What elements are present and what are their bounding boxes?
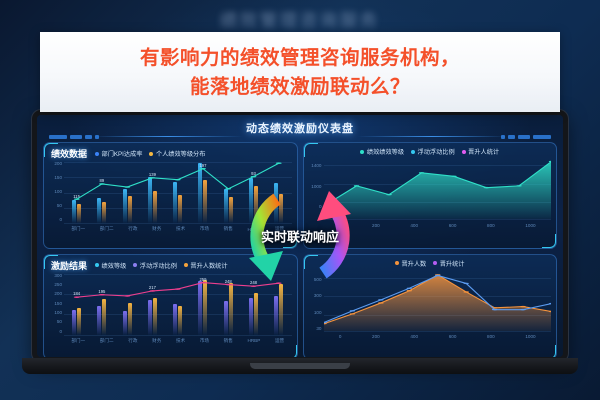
legend-item[interactable]: 绩效等级 — [95, 261, 126, 270]
y-tick: 100 — [54, 190, 62, 195]
y-axis: 200 150 100 50 0 — [47, 162, 62, 223]
x-tick: 运营 — [275, 226, 284, 232]
y-tick: 0 — [319, 205, 322, 210]
y-tick: 500 — [314, 278, 322, 283]
panel-incentive-results[interactable]: 激励结果 绩效等级 浮动浮动比例 晋升人数统计 — [43, 254, 298, 361]
x-tick: 1000 — [525, 334, 535, 339]
x-tick: 行政 — [128, 338, 137, 344]
x-tick: 部门二 — [100, 226, 114, 232]
header-decoration-left — [49, 134, 99, 140]
y-tick: 50 — [57, 204, 62, 209]
x-tick: 销售 — [224, 226, 233, 232]
legend-label: 晋升人数统计 — [190, 261, 227, 270]
x-axis: 部门一部门二行政财务技术市场销售HRBP运营 — [64, 336, 292, 346]
x-tick: 技术 — [176, 338, 185, 344]
x-tick: HRBP — [248, 338, 261, 343]
x-tick: 部门一 — [71, 226, 85, 232]
y-tick: 300 — [54, 274, 62, 279]
y-tick: 200 — [54, 162, 62, 167]
legend-item[interactable]: 绩效绩效等级 — [360, 147, 404, 156]
line-overlay — [64, 162, 292, 223]
x-tick: HRBP — [248, 227, 261, 232]
panel-grid: 绩效数据 部门KPI达成率 个人绩效等级分布 200 — [43, 142, 557, 360]
headline-banner: 有影响力的绩效管理咨询服务机构， 能落地绩效激励联动么？ — [40, 32, 560, 112]
chart-plot-area: 500 300 100 30 02004006008001000 — [307, 270, 552, 342]
x-tick: 600 — [449, 223, 457, 228]
x-tick: 800 — [487, 334, 495, 339]
x-tick: 销售 — [224, 338, 233, 344]
chart-canvas: 1158913919793 — [64, 162, 292, 223]
legend-label: 浮动浮动比例 — [140, 261, 177, 270]
panel-title: 绩效数据 — [51, 147, 87, 160]
x-tick: 技术 — [176, 226, 185, 232]
y-tick: 200 — [54, 292, 62, 297]
y-tick: 30 — [316, 327, 321, 332]
y-axis: 1400 1000 0 — [307, 158, 322, 219]
legend-label: 绩效绩效等级 — [367, 147, 404, 156]
chart-plot-area: 200 150 100 50 0 1158913919793 — [47, 162, 292, 234]
x-tick: 800 — [487, 223, 495, 228]
x-axis: 部门一部门二行政财务技术市场销售HRBP运营 — [64, 224, 292, 234]
chart-canvas: 184195217259248248 — [64, 274, 292, 335]
headline-line-1: 有影响力的绩效管理咨询服务机构， — [140, 46, 460, 70]
panel-header: 晋升人数 晋升统计 — [304, 255, 557, 269]
legend-item[interactable]: 晋升人数统计 — [184, 261, 228, 270]
line-overlay — [64, 274, 292, 335]
y-tick: 300 — [314, 294, 322, 299]
header-line-right — [357, 136, 507, 137]
x-tick: 部门二 — [100, 338, 114, 344]
chart-legend: 晋升人数 晋升统计 — [395, 259, 465, 268]
y-tick: 0 — [59, 330, 62, 335]
header-line-left — [93, 136, 243, 137]
legend-label: 浮动浮动比例 — [418, 147, 455, 156]
laptop-mockup: 动态绩效激励仪表盘 绩效数据 部门KPI达成率 — [22, 110, 578, 372]
background-blurred-text: 绩效管理咨询服务 — [0, 6, 600, 31]
laptop-trackpad-notch — [250, 363, 350, 369]
panel-promotion-stats[interactable]: 晋升人数 晋升统计 500 300 100 30 — [303, 254, 558, 361]
x-tick: 部门一 — [71, 338, 85, 344]
chart-plot-area: 300 250 200 150 100 50 0 184195217259248… — [47, 274, 292, 346]
x-tick: 财务 — [152, 338, 161, 344]
y-tick: 250 — [54, 283, 62, 288]
legend-item[interactable]: 浮动浮动比例 — [411, 147, 455, 156]
header-decoration-right — [501, 134, 551, 140]
x-axis: 02004006008001000 — [324, 220, 552, 230]
legend-item[interactable]: 浮动浮动比例 — [133, 261, 177, 270]
legend-label: 晋升统计 — [440, 259, 465, 268]
x-tick: 1000 — [525, 223, 535, 228]
x-tick: 市场 — [200, 226, 209, 232]
y-tick: 1400 — [311, 164, 321, 169]
y-axis: 500 300 100 30 — [307, 270, 322, 331]
legend-item[interactable]: 晋升人统计 — [462, 147, 499, 156]
chart-legend: 绩效等级 浮动浮动比例 晋升人数统计 — [95, 261, 228, 270]
chart-legend: 部门KPI达成率 个人绩效等级分布 — [95, 149, 205, 158]
x-tick: 0 — [339, 334, 342, 339]
legend-label: 部门KPI达成率 — [102, 149, 143, 158]
x-tick: 400 — [410, 223, 418, 228]
x-tick: 0 — [339, 223, 342, 228]
panel-grade-trend[interactable]: 绩效绩效等级 浮动浮动比例 晋升人统计 1400 — [303, 142, 558, 249]
y-axis: 300 250 200 150 100 50 0 — [47, 274, 62, 335]
y-tick: 50 — [57, 320, 62, 325]
x-tick: 运营 — [275, 338, 284, 344]
x-tick: 600 — [449, 334, 457, 339]
chart-canvas — [324, 158, 552, 219]
chart-canvas — [324, 270, 552, 331]
x-tick: 财务 — [152, 226, 161, 232]
laptop-screen: 动态绩效激励仪表盘 绩效数据 部门KPI达成率 — [32, 110, 568, 362]
y-tick: 100 — [54, 311, 62, 316]
y-tick: 150 — [54, 176, 62, 181]
legend-label: 晋升人数 — [402, 259, 427, 268]
legend-item[interactable]: 个人绩效等级分布 — [149, 149, 205, 158]
x-axis: 02004006008001000 — [324, 332, 552, 342]
legend-label: 绩效等级 — [102, 261, 127, 270]
y-tick: 100 — [314, 311, 322, 316]
y-tick: 150 — [54, 302, 62, 307]
x-tick: 行政 — [128, 226, 137, 232]
panel-performance-data[interactable]: 绩效数据 部门KPI达成率 个人绩效等级分布 200 — [43, 142, 298, 249]
legend-item[interactable]: 部门KPI达成率 — [95, 149, 142, 158]
dashboard: 动态绩效激励仪表盘 绩效数据 部门KPI达成率 — [37, 115, 563, 357]
panel-header: 激励结果 绩效等级 浮动浮动比例 晋升人数统计 — [44, 255, 297, 273]
dashboard-header: 动态绩效激励仪表盘 — [43, 118, 557, 142]
area-series — [324, 158, 552, 219]
panel-header: 绩效绩效等级 浮动浮动比例 晋升人统计 — [304, 143, 557, 157]
area-series — [324, 270, 552, 331]
x-tick: 市场 — [200, 338, 209, 344]
x-tick: 200 — [372, 334, 380, 339]
x-tick: 200 — [372, 223, 380, 228]
legend-item[interactable]: 晋升统计 — [433, 259, 464, 268]
y-tick: 1000 — [311, 185, 321, 190]
legend-label: 个人绩效等级分布 — [156, 149, 206, 158]
chart-legend: 绩效绩效等级 浮动浮动比例 晋升人统计 — [360, 147, 499, 156]
headline-line-2: 能落地绩效激励联动么？ — [190, 75, 410, 99]
legend-item[interactable]: 晋升人数 — [395, 259, 426, 268]
x-tick: 400 — [410, 334, 418, 339]
y-tick: 0 — [59, 218, 62, 223]
panel-header: 绩效数据 部门KPI达成率 个人绩效等级分布 — [44, 143, 297, 161]
panel-title: 激励结果 — [51, 259, 87, 272]
chart-plot-area: 1400 1000 0 02004006008001000 — [307, 158, 552, 230]
legend-label: 晋升人统计 — [468, 147, 499, 156]
dashboard-title: 动态绩效激励仪表盘 — [43, 120, 557, 136]
